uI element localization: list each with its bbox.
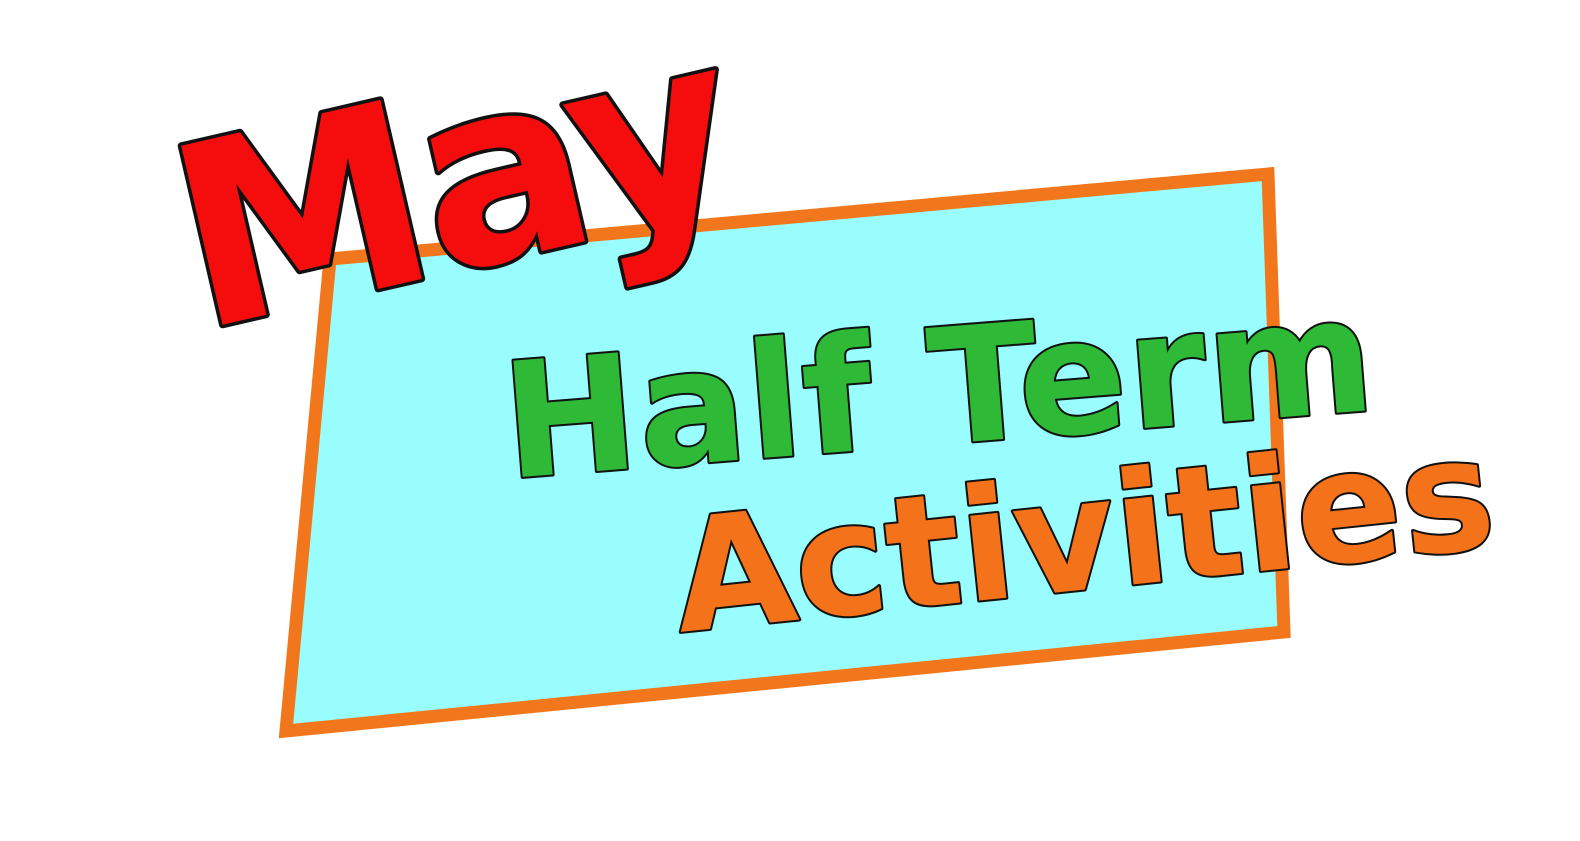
poster-canvas: May Half Term Activities [0, 0, 1580, 841]
poster-artwork: May Half Term Activities [0, 0, 1580, 841]
